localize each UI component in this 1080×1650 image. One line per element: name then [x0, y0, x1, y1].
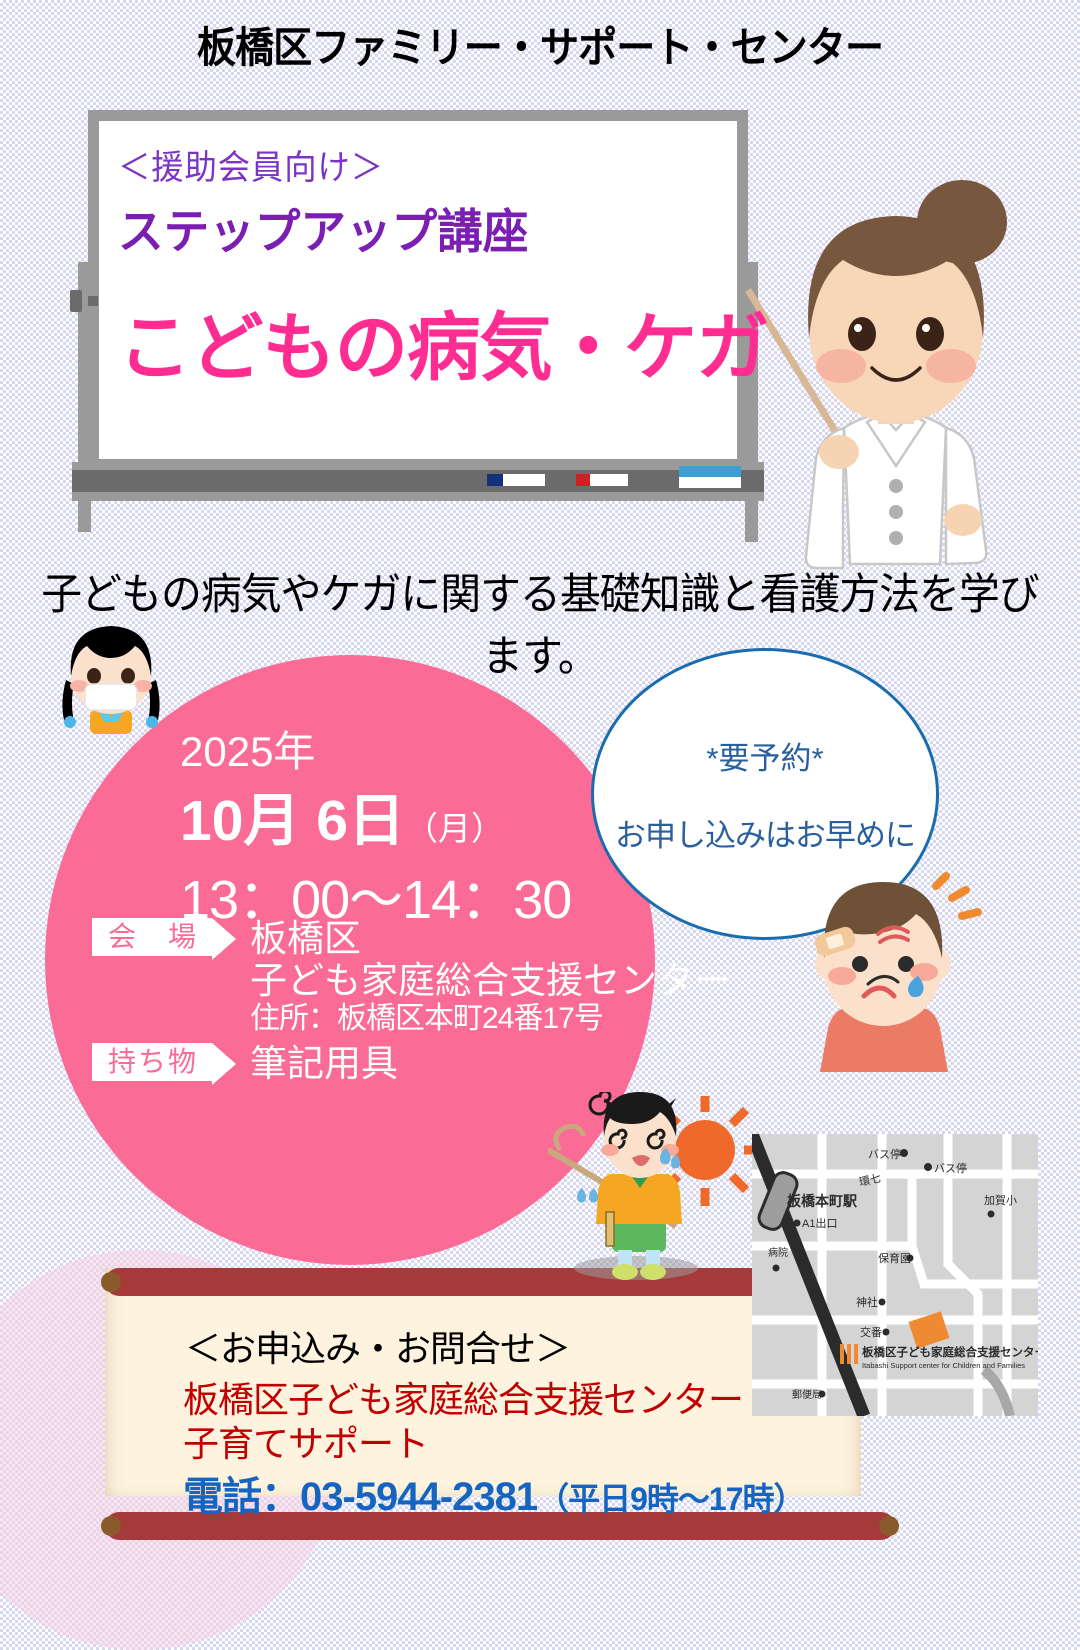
- map-label-school: 加賀小: [984, 1194, 1017, 1207]
- event-date-block: 2025年 10月 6日（月） 13：00～14：30: [180, 718, 600, 934]
- event-year: 2025年: [180, 718, 600, 779]
- location-map: バス停 バス停 環七 板橋本町駅 A1出口 加賀小 病院 保育園 神社 交番 郵…: [752, 1134, 1038, 1416]
- contact-org-line2: 子育てサポート: [183, 1422, 743, 1466]
- heatstroke-boy-illustration: [548, 1092, 764, 1284]
- map-label-shrine: 神社: [856, 1295, 878, 1309]
- bring-row: 持ち物 筆記用具: [92, 1043, 398, 1085]
- bring-tag: 持ち物: [92, 1043, 212, 1081]
- venue-line2: 子ども家庭総合支援センター: [250, 960, 731, 1002]
- page-title: 板橋区ファミリー・サポート・センター: [38, 14, 1042, 75]
- venue-value: 板橋区 子ども家庭総合支援センター 住所：板橋区本町24番17号: [250, 918, 731, 1035]
- contact-phone-hours: （平日9時～17時）: [537, 1481, 804, 1517]
- venue-address: 住所：板橋区本町24番17号: [250, 1002, 731, 1036]
- map-label-police: 交番: [860, 1325, 882, 1339]
- contact-phone-number: 03-5944-2381: [300, 1475, 537, 1519]
- navy-marker-icon: [487, 474, 545, 486]
- bring-value: 筆記用具: [250, 1043, 398, 1085]
- whiteboard-headline: こどもの病気・ケガ: [118, 288, 712, 395]
- venue-line1: 板橋区: [250, 918, 731, 960]
- map-label-hospital: 病院: [768, 1246, 788, 1259]
- whiteboard-tray-bottom: [72, 492, 764, 501]
- whiteboard-course-title: ステップアップ講座: [118, 193, 700, 262]
- whiteboard-knob-left: [70, 290, 82, 312]
- notice-line-1: *要予約*: [706, 733, 823, 778]
- blue-eraser-icon: [679, 466, 741, 488]
- subtitle-text: 子どもの病気やケガに関する基礎知識と看護方法を学びます。: [27, 560, 1053, 684]
- red-marker-icon: [576, 474, 628, 486]
- event-date: 10月 6日（月）: [180, 775, 600, 857]
- whiteboard-knob-right: [88, 296, 98, 306]
- event-weekday: （月）: [405, 810, 504, 847]
- map-center-label-en: Itabashi Support center for Children and…: [862, 1361, 1025, 1370]
- whiteboard-text-block: ＜援助会員向け＞ ステップアップ講座 こどもの病気・ケガ: [118, 140, 718, 395]
- contact-org-line1: 板橋区子ども家庭総合支援センター: [183, 1378, 743, 1422]
- map-label-bus-stop-1: バス停: [868, 1147, 901, 1161]
- doctor-illustration: [740, 160, 1050, 570]
- map-label-station: 板橋本町駅: [787, 1193, 858, 1209]
- crying-boy-illustration: [786, 872, 982, 1072]
- contact-organization: 板橋区子ども家庭総合支援センター 子育てサポート: [183, 1378, 743, 1466]
- girl-with-mask-illustration: [52, 618, 170, 734]
- venue-tag: 会 場: [92, 918, 212, 956]
- map-center-label-jp: 板橋区子ども家庭総合支援センター: [862, 1345, 1038, 1359]
- event-date-value: 10月 6日: [180, 789, 405, 853]
- venue-row: 会 場 板橋区 子ども家庭総合支援センター 住所：板橋区本町24番17号: [92, 918, 731, 1035]
- contact-phone-label: 電話：: [183, 1475, 300, 1519]
- notice-line-2: お申し込みはお早めに: [615, 810, 915, 855]
- contact-phone[interactable]: 電話：03-5944-2381（平日9時～17時）: [183, 1464, 805, 1522]
- whiteboard-audience-label: ＜援助会員向け＞: [118, 140, 688, 189]
- map-label-bus-stop-2: バス停: [934, 1161, 967, 1175]
- contact-heading: ＜お申込み・お問合せ＞: [185, 1320, 570, 1372]
- map-label-exit: A1出口: [802, 1216, 837, 1230]
- map-label-post-office: 郵便局: [792, 1388, 822, 1401]
- map-label-nursery: 保育園: [878, 1251, 911, 1265]
- whiteboard-tray: [72, 470, 764, 492]
